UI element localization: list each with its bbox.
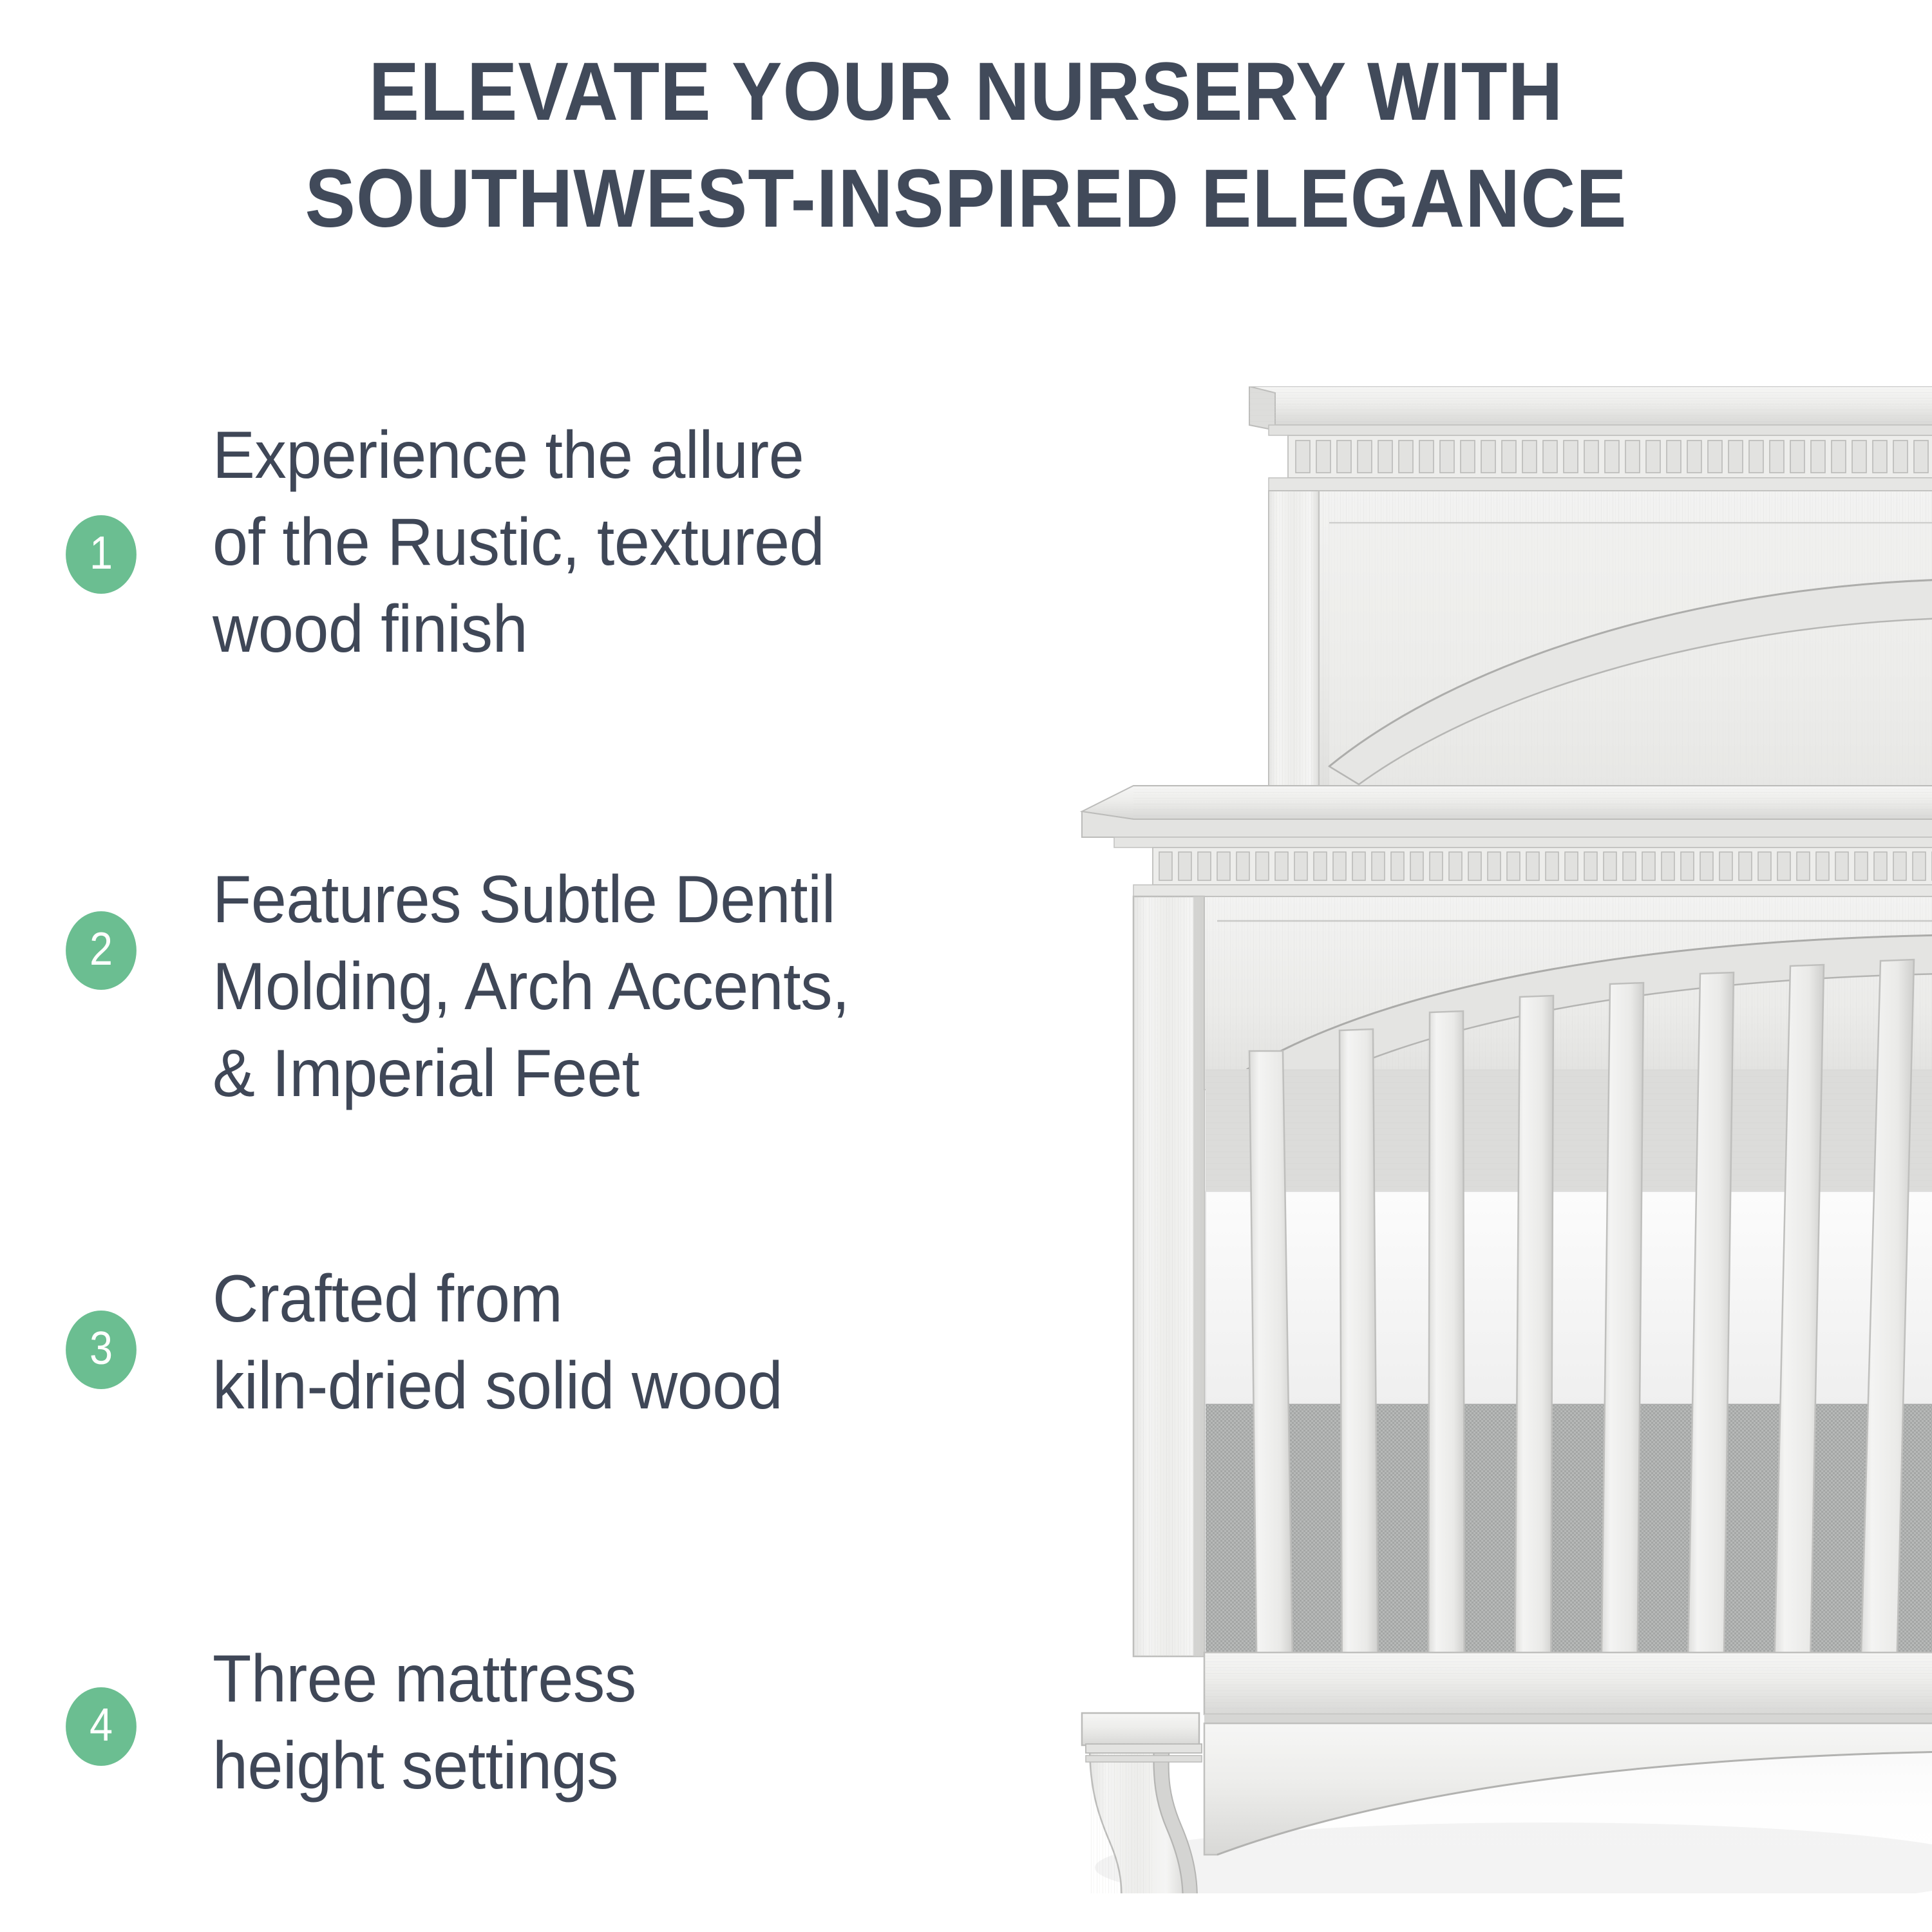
feature-list: 1 Experience the allure of the Rustic, t… (0, 0, 1082, 1932)
corner-post (1133, 896, 1204, 1656)
crib-product-image (1056, 386, 1932, 1893)
feature-number-badge-2: 2 (66, 911, 137, 990)
feature-text-4: Three mattress height settings (213, 1636, 636, 1810)
infographic-canvas: ELEVATE YOUR NURSERY WITH SOUTHWEST-INSP… (0, 0, 1932, 1932)
headboard-panel (1319, 491, 1932, 793)
feature-number-badge-4: 4 (66, 1687, 137, 1766)
upper-dentil-molding (1288, 435, 1932, 478)
side-cap-rail (1082, 786, 1932, 837)
mattress-and-skirt (1206, 1069, 1932, 1694)
top-cap-trim (1269, 425, 1932, 435)
lower-dentil-molding (1153, 848, 1932, 885)
upper-dentil-base-trim (1269, 478, 1932, 491)
feature-number-badge-3: 3 (66, 1311, 137, 1389)
mattress (1206, 1191, 1932, 1404)
feature-text-3: Crafted from kiln-dried solid wood (213, 1256, 782, 1430)
top-cap-rail (1249, 386, 1932, 430)
feature-text-2: Features Subtle Dentil Molding, Arch Acc… (213, 857, 849, 1118)
feature-text-1: Experience the allure of the Rustic, tex… (213, 412, 824, 674)
crib-skirt-fabric (1206, 1404, 1932, 1694)
feature-number-badge-1: 1 (66, 515, 137, 594)
imperial-foot (1082, 1713, 1202, 1893)
bottom-rail (1204, 1653, 1932, 1723)
